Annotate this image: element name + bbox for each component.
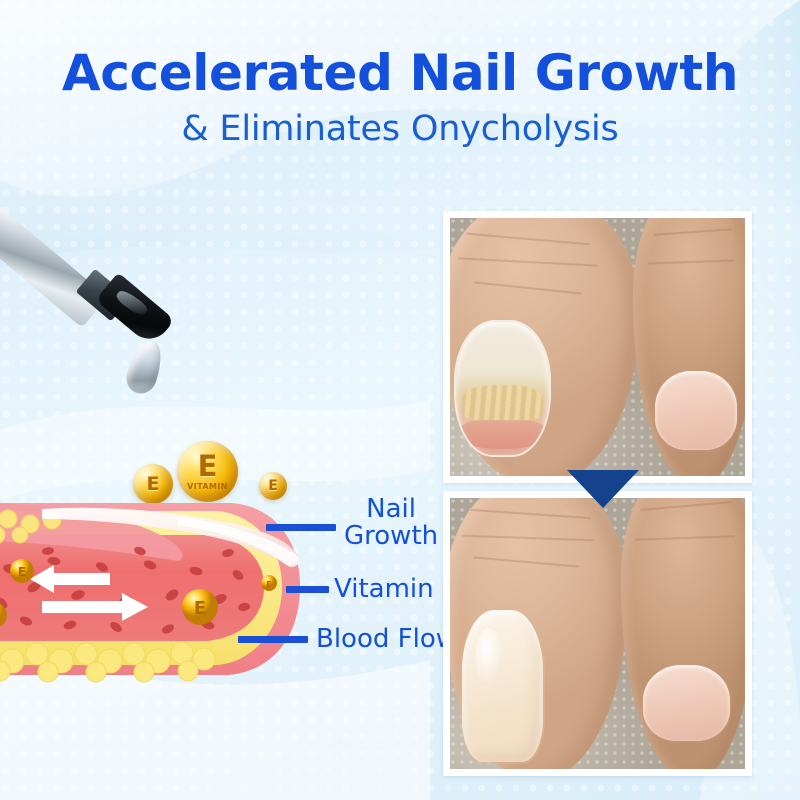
callout-nail-growth: Nail Growth <box>266 496 438 549</box>
skin-crease <box>462 535 594 542</box>
callout-label: Blood Flow <box>316 626 457 653</box>
after-photo-image <box>450 498 745 769</box>
nail-brush-applicator <box>0 196 210 456</box>
brush-head-icon <box>95 272 175 347</box>
before-photo-damaged-toenail <box>443 211 752 483</box>
skin-crease <box>473 557 579 568</box>
serum-droplet-icon <box>122 337 167 398</box>
svg-text:E: E <box>194 598 206 619</box>
skin-crease <box>635 535 735 541</box>
damaged-nail-plate <box>456 322 548 455</box>
skin-crease <box>648 260 735 265</box>
callout-label: Nail Growth <box>344 496 438 549</box>
callout-leader-line <box>286 586 329 593</box>
skin-crease <box>466 232 590 245</box>
callout-blood-flow: Blood Flow <box>238 626 457 653</box>
after-photo-healthy-toenail <box>443 491 752 776</box>
callout-leader-line <box>238 636 308 643</box>
page-subtitle: & Eliminates Onycholysis <box>0 109 800 149</box>
header: Accelerated Nail Growth & Eliminates Ony… <box>0 0 800 175</box>
skin-crease <box>474 281 582 294</box>
svg-text:E: E <box>18 565 26 579</box>
callout-vitamin-e: Vitamin E <box>286 576 458 603</box>
big-toe <box>450 218 639 476</box>
healthy-nail-plate <box>462 610 542 762</box>
downward-transition-arrow <box>567 470 639 508</box>
callout-label: Vitamin E <box>334 576 458 603</box>
nail-damage-area <box>460 420 545 449</box>
big-toe <box>450 498 627 769</box>
skin-crease <box>640 501 732 511</box>
page-title: Accelerated Nail Growth <box>0 44 800 102</box>
brush-handle <box>0 201 108 328</box>
skin-crease <box>653 228 732 236</box>
second-toenail <box>655 371 737 450</box>
second-toenail <box>643 665 730 742</box>
capsule-word: VITAMIN <box>187 483 228 491</box>
promo-banner: Accelerated Nail Growth & Eliminates Ony… <box>0 0 800 800</box>
capsule-letter: E <box>147 475 160 494</box>
callout-leader-line <box>266 524 336 531</box>
skin-crease <box>470 509 591 519</box>
capsule-letter: E <box>268 479 278 493</box>
svg-text:E: E <box>266 580 271 589</box>
vitamin-e-capsule-icon: E VITAMIN <box>177 441 238 502</box>
before-photo-image <box>450 218 745 476</box>
capsule-letter: E <box>198 452 218 481</box>
skin-crease <box>458 257 598 266</box>
